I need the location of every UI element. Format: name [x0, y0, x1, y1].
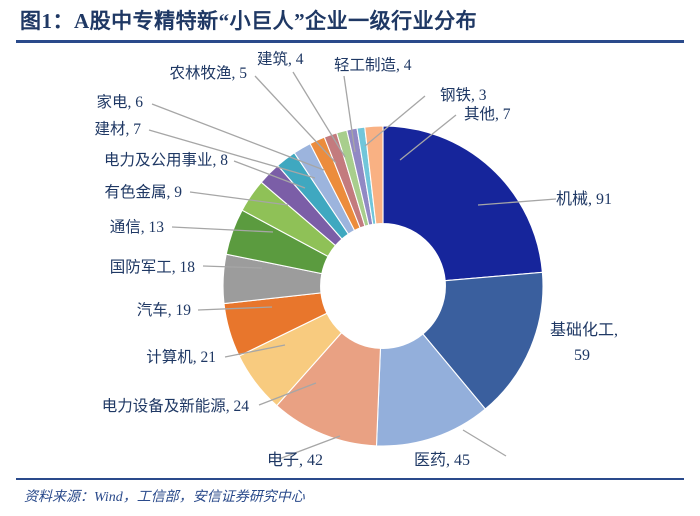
- figure-container: 图1：A股中专精特新“小巨人”企业一级行业分布 机械, 91 基础化工, 59 …: [0, 0, 700, 516]
- slice-label-power-equipment: 电力设备及新能源, 24: [102, 397, 250, 415]
- slice-label-auto: 汽车, 19: [137, 301, 192, 319]
- slice-label-basic-chemical-line2: 59: [574, 347, 590, 364]
- slice-label-building-material: 建材, 7: [94, 120, 141, 138]
- slice-label-basic-chemical-line1: 基础化工,: [550, 321, 618, 339]
- slice-label-mechanical: 机械, 91: [556, 190, 612, 208]
- slice-label-computer: 计算机, 21: [146, 347, 216, 366]
- footer-divider: [16, 478, 684, 480]
- donut-chart: 机械, 91 基础化工, 59 医药, 45 电子, 42 电力设备及新能源, …: [0, 0, 700, 516]
- slice-label-electronics: 电子, 42: [267, 451, 323, 469]
- leader-line: [255, 76, 336, 163]
- slice-label-utilities: 电力及公用事业, 8: [104, 151, 228, 169]
- slice-label-defense: 国防军工, 18: [110, 258, 196, 276]
- slice-label-pharma: 医药, 45: [414, 451, 470, 469]
- pie-slices: [223, 126, 543, 446]
- slice-label-light-manufacturing: 轻工制造, 4: [334, 56, 412, 74]
- slice-label-construction: 建筑, 4: [257, 50, 304, 68]
- source-note: 资料来源：Wind，工信部，安信证券研究中心: [24, 486, 305, 506]
- slice-label-agriculture: 农林牧渔, 5: [169, 64, 247, 82]
- slice-label-nonferrous: 有色金属, 9: [104, 183, 182, 201]
- slice-label-steel: 钢铁, 3: [440, 86, 487, 104]
- slice-label-telecom: 通信, 13: [110, 218, 165, 236]
- slice-label-appliance: 家电, 6: [96, 93, 143, 111]
- pie-slice: [383, 126, 542, 281]
- slice-label-other: 其他, 7: [464, 105, 511, 123]
